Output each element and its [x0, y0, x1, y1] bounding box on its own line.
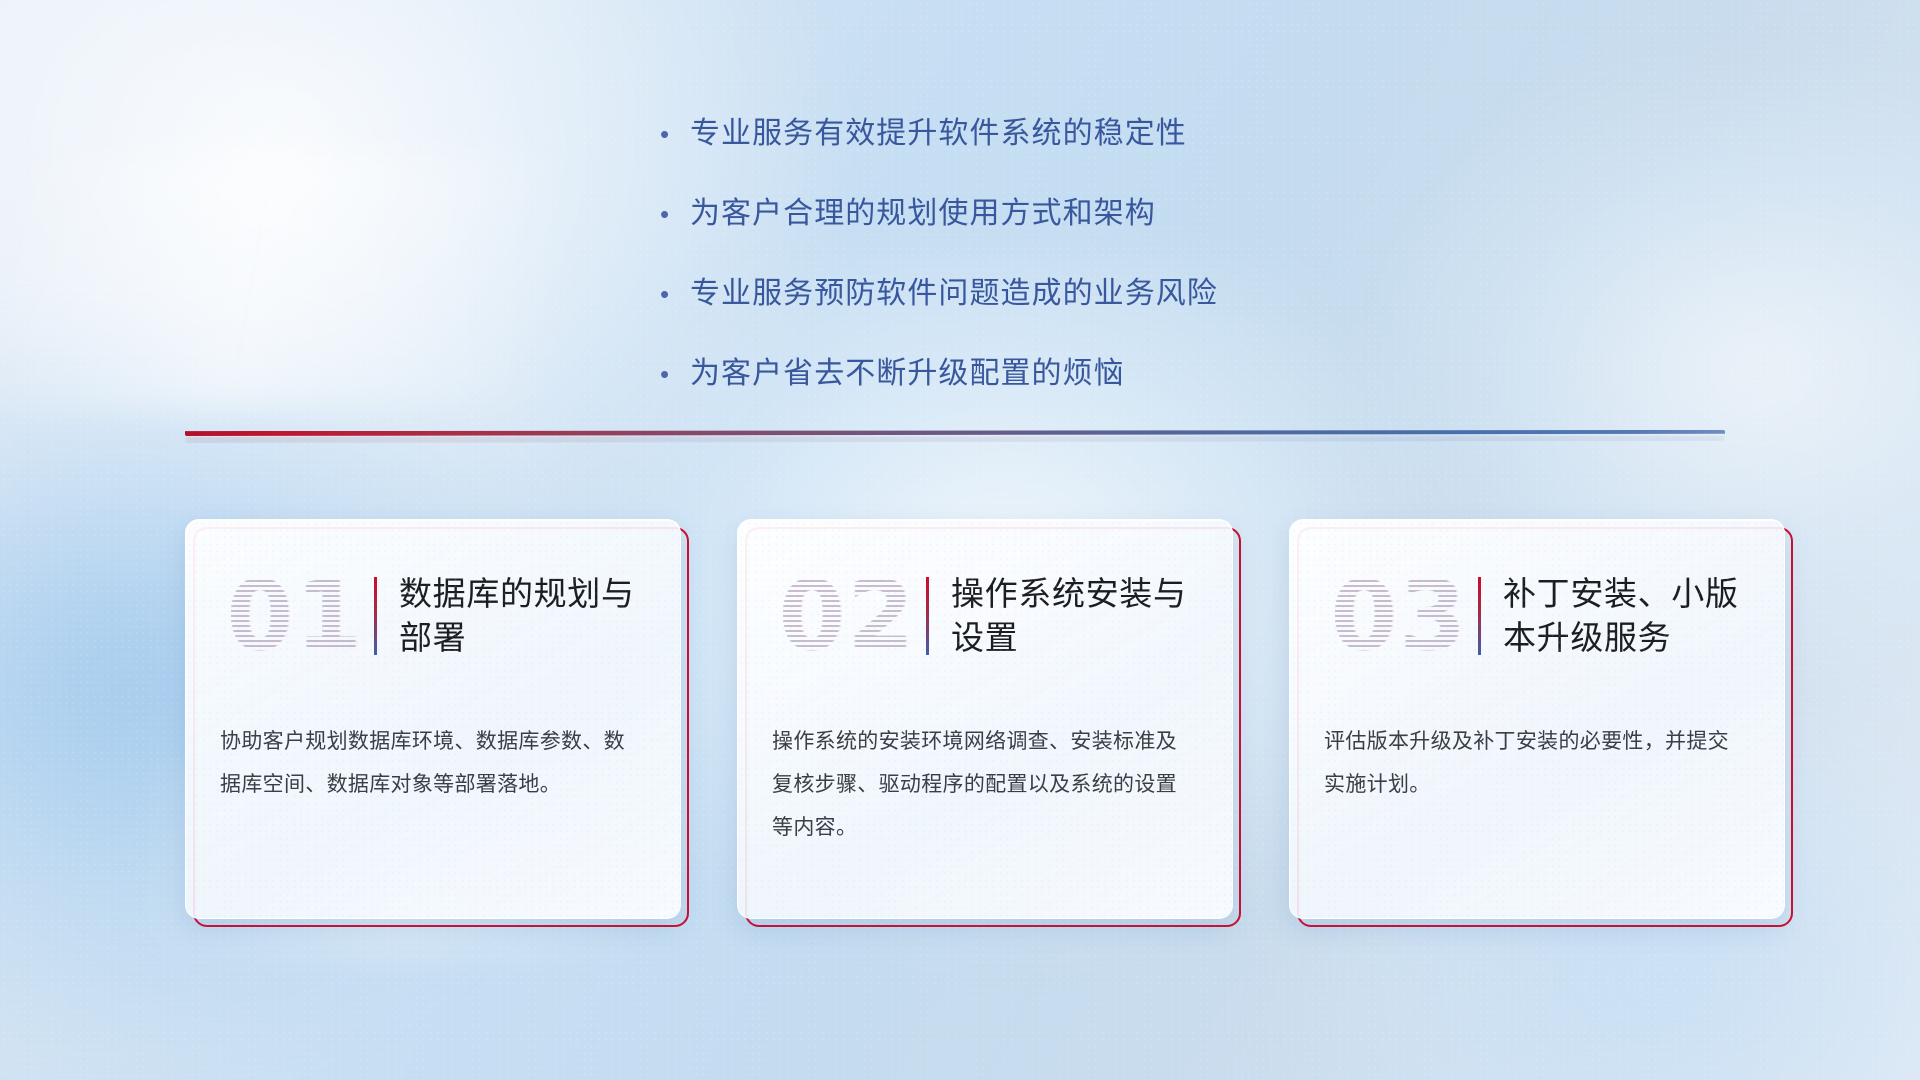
list-item: • 为客户合理的规划使用方式和架构: [660, 188, 1420, 232]
card-number-watermark: 03 03: [1324, 560, 1474, 672]
card-title-accent-bar: [926, 577, 929, 655]
card-title-accent-bar: [1478, 577, 1481, 655]
service-card-03[interactable]: 03 03 补丁安装、小版本升级服务 评估版本升级及补丁安装的必要性，并提交实施…: [1289, 519, 1785, 919]
divider-shadow: [185, 436, 1725, 443]
card-title: 数据库的规划与部署: [399, 572, 646, 659]
card-number-red-offset: 03: [1326, 560, 1476, 672]
card-number-red-offset: 01: [222, 560, 372, 672]
card-title: 补丁安装、小版本升级服务: [1503, 572, 1750, 659]
bullet-dot-icon: •: [660, 361, 690, 387]
card-number-watermark: 01 01: [220, 560, 370, 672]
bullet-dot-icon: •: [660, 281, 690, 307]
card-number-red-offset: 02: [774, 560, 924, 672]
bullet-dot-icon: •: [660, 201, 690, 227]
bullet-dot-icon: •: [660, 121, 690, 147]
service-card-02[interactable]: 02 02 操作系统安装与设置 操作系统的安装环境网络调查、安装标准及复核步骤、…: [737, 519, 1233, 919]
section-divider: [185, 424, 1725, 444]
card-description: 操作系统的安装环境网络调查、安装标准及复核步骤、驱动程序的配置以及系统的设置等内…: [772, 720, 1198, 849]
card-surface: 03 03 补丁安装、小版本升级服务 评估版本升级及补丁安装的必要性，并提交实施…: [1289, 519, 1785, 919]
card-title: 操作系统安装与设置: [951, 572, 1198, 659]
card-header: 01 01 数据库的规划与部署: [220, 556, 646, 676]
service-card-01[interactable]: 01 01 数据库的规划与部署 协助客户规划数据库环境、数据库参数、数据库空间、…: [185, 519, 681, 919]
bullet-text: 专业服务预防软件问题造成的业务风险: [690, 268, 1218, 312]
divider-line: [185, 430, 1725, 436]
card-description: 协助客户规划数据库环境、数据库参数、数据库空间、数据库对象等部署落地。: [220, 720, 646, 806]
card-description: 评估版本升级及补丁安装的必要性，并提交实施计划。: [1324, 720, 1750, 806]
service-card-group: 01 01 数据库的规划与部署 协助客户规划数据库环境、数据库参数、数据库空间、…: [185, 519, 1785, 919]
list-item: • 为客户省去不断升级配置的烦恼: [660, 348, 1420, 392]
benefits-bullet-list: • 专业服务有效提升软件系统的稳定性 • 为客户合理的规划使用方式和架构 • 专…: [660, 108, 1420, 428]
card-number-watermark: 02 02: [772, 560, 922, 672]
list-item: • 专业服务预防软件问题造成的业务风险: [660, 268, 1420, 312]
bullet-text: 为客户省去不断升级配置的烦恼: [690, 348, 1125, 392]
card-title-accent-bar: [374, 577, 377, 655]
card-surface: 02 02 操作系统安装与设置 操作系统的安装环境网络调查、安装标准及复核步骤、…: [737, 519, 1233, 919]
bullet-text: 为客户合理的规划使用方式和架构: [690, 188, 1156, 232]
bullet-text: 专业服务有效提升软件系统的稳定性: [690, 108, 1187, 152]
card-surface: 01 01 数据库的规划与部署 协助客户规划数据库环境、数据库参数、数据库空间、…: [185, 519, 681, 919]
card-header: 03 03 补丁安装、小版本升级服务: [1324, 556, 1750, 676]
list-item: • 专业服务有效提升软件系统的稳定性: [660, 108, 1420, 152]
card-header: 02 02 操作系统安装与设置: [772, 556, 1198, 676]
